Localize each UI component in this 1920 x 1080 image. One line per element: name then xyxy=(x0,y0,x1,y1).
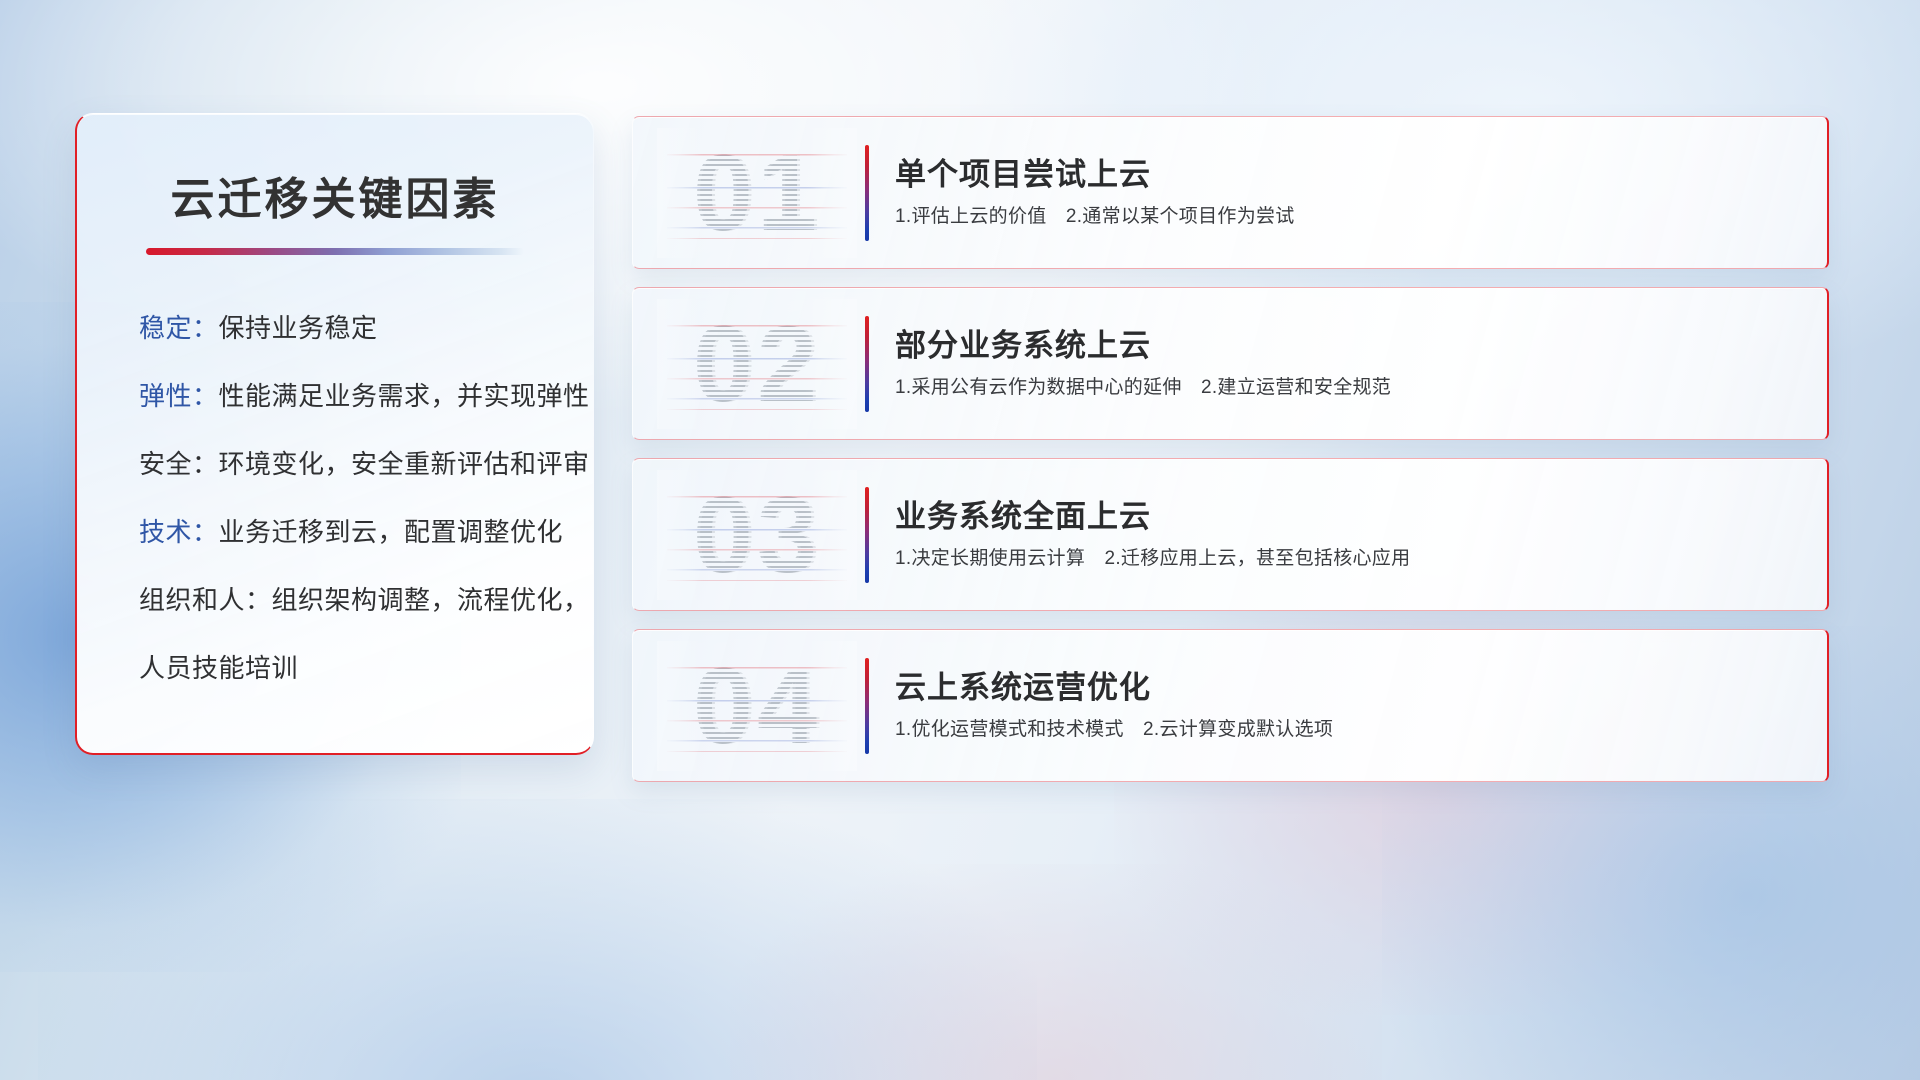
factor-text: 组织架构调整，流程优化， xyxy=(272,585,590,615)
factor-label: 弹性： xyxy=(139,381,219,411)
factor-label: 技术： xyxy=(139,517,219,547)
key-factors-list: 稳定：保持业务稳定 弹性：性能满足业务需求，并实现弹性 安全：环境变化，安全重新… xyxy=(115,315,555,681)
stage-card[interactable]: 01 01 单个项目尝试上云 1.评估上云的价值 2.通常以某个项目作为尝试 xyxy=(632,116,1829,269)
stage-number: 01 xyxy=(667,134,847,252)
accent-bar-icon xyxy=(865,658,869,754)
factor-label: 组织和人： xyxy=(139,585,272,615)
stage-title: 部分业务系统上云 xyxy=(895,327,1795,364)
stage-card[interactable]: 02 02 部分业务系统上云 1.采用公有云作为数据中心的延伸 2.建立运营和安… xyxy=(632,287,1829,440)
stage-title: 单个项目尝试上云 xyxy=(895,156,1795,193)
page-title: 云迁移关键因素 xyxy=(115,178,555,222)
list-item: 弹性：性能满足业务需求，并实现弹性 xyxy=(139,383,555,409)
stage-title: 云上系统运营优化 xyxy=(895,669,1795,706)
stage-number-glitch: 04 04 xyxy=(667,647,847,765)
list-item: 人员技能培训 xyxy=(139,655,555,681)
stage-description: 1.评估上云的价值 2.通常以某个项目作为尝试 xyxy=(895,206,1795,229)
stage-number: 04 xyxy=(667,647,847,765)
factor-label: 安全： xyxy=(139,449,219,479)
stage-number-glitch: 02 02 xyxy=(667,305,847,423)
stage-card-text: 单个项目尝试上云 1.评估上云的价值 2.通常以某个项目作为尝试 xyxy=(895,156,1795,228)
factor-text: 环境变化，安全重新评估和评审 xyxy=(219,449,590,479)
accent-bar-icon xyxy=(865,487,869,583)
slide-stage: 云迁移关键因素 稳定：保持业务稳定 弹性：性能满足业务需求，并实现弹性 安全：环… xyxy=(0,0,1920,1080)
stage-number-glitch: 03 03 xyxy=(667,476,847,594)
stage-title: 业务系统全面上云 xyxy=(895,498,1795,535)
factor-text: 性能满足业务需求，并实现弹性 xyxy=(219,381,590,411)
stage-description: 1.优化运营模式和技术模式 2.云计算变成默认选项 xyxy=(895,719,1795,742)
stage-card[interactable]: 03 03 业务系统全面上云 1.决定长期使用云计算 2.迁移应用上云，甚至包括… xyxy=(632,458,1829,611)
stage-card[interactable]: 04 04 云上系统运营优化 1.优化运营模式和技术模式 2.云计算变成默认选项 xyxy=(632,629,1829,782)
accent-bar-icon xyxy=(865,316,869,412)
stage-number-glitch: 01 01 xyxy=(667,134,847,252)
stage-description: 1.决定长期使用云计算 2.迁移应用上云，甚至包括核心应用 xyxy=(895,548,1795,571)
factor-text: 业务迁移到云，配置调整优化 xyxy=(219,517,564,547)
factor-text: 人员技能培训 xyxy=(139,653,298,683)
stage-number: 03 xyxy=(667,476,847,594)
stage-card-text: 业务系统全面上云 1.决定长期使用云计算 2.迁移应用上云，甚至包括核心应用 xyxy=(895,498,1795,570)
stage-card-text: 云上系统运营优化 1.优化运营模式和技术模式 2.云计算变成默认选项 xyxy=(895,669,1795,741)
title-underline-gradient xyxy=(146,248,524,255)
list-item: 组织和人：组织架构调整，流程优化， xyxy=(139,587,555,613)
stage-card-text: 部分业务系统上云 1.采用公有云作为数据中心的延伸 2.建立运营和安全规范 xyxy=(895,327,1795,399)
accent-bar-icon xyxy=(865,145,869,241)
list-item: 安全：环境变化，安全重新评估和评审 xyxy=(139,451,555,477)
key-factors-panel-inner: 云迁移关键因素 稳定：保持业务稳定 弹性：性能满足业务需求，并实现弹性 安全：环… xyxy=(77,114,593,753)
factor-label: 稳定： xyxy=(139,313,219,343)
stage-number: 02 xyxy=(667,305,847,423)
list-item: 稳定：保持业务稳定 xyxy=(139,315,555,341)
list-item: 技术：业务迁移到云，配置调整优化 xyxy=(139,519,555,545)
factor-text: 保持业务稳定 xyxy=(219,313,378,343)
stage-description: 1.采用公有云作为数据中心的延伸 2.建立运营和安全规范 xyxy=(895,377,1795,400)
key-factors-panel: 云迁移关键因素 稳定：保持业务稳定 弹性：性能满足业务需求，并实现弹性 安全：环… xyxy=(75,113,594,755)
